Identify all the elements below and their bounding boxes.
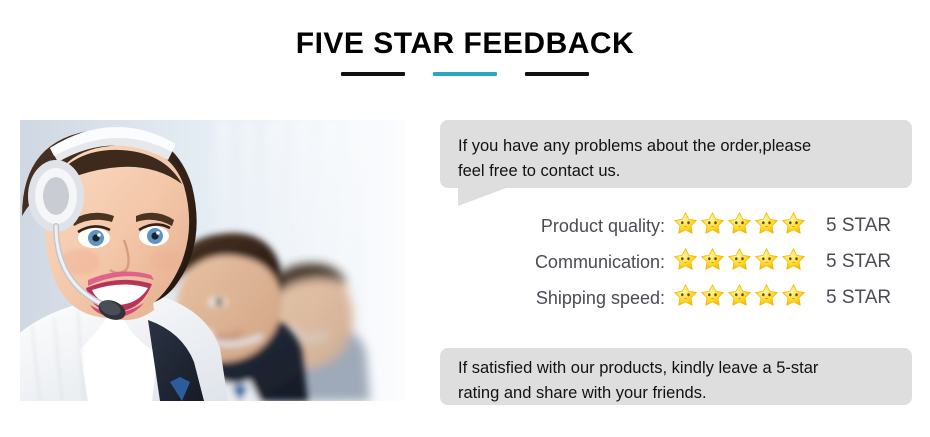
ratings-list: Product quality: 5 STAR Communication: 5… [440,208,912,316]
rating-value: 5 STAR [808,215,891,237]
star-icon [727,283,752,313]
page-title: FIVE STAR FEEDBACK [0,26,930,62]
rating-row-communication: Communication: 5 STAR [440,244,912,280]
title-underline-rules [0,72,930,76]
star-icon [754,211,779,241]
title-rule-left [341,72,405,76]
star-icon [673,211,698,241]
star-rating-shipping-speed [673,283,808,313]
rating-label: Product quality: [440,216,673,237]
star-icon [700,211,725,241]
star-icon [727,211,752,241]
review-request-bubble: If satisfied with our products, kindly l… [440,348,912,405]
rating-row-product-quality: Product quality: 5 STAR [440,208,912,244]
star-rating-communication [673,247,808,277]
star-icon [781,283,806,313]
star-rating-product-quality [673,211,808,241]
rating-label: Communication: [440,252,673,273]
review-request-line-2: rating and share with your friends. [458,381,892,406]
contact-info-line-1: If you have any problems about the order… [458,134,892,159]
rating-row-shipping-speed: Shipping speed: 5 STAR [440,280,912,316]
contact-info-line-2: feel free to contact us. [458,159,892,184]
star-icon [781,247,806,277]
star-icon [727,247,752,277]
rating-value: 5 STAR [808,251,891,273]
star-icon [754,247,779,277]
star-icon [673,247,698,277]
star-icon [700,283,725,313]
star-icon [673,283,698,313]
star-icon [781,211,806,241]
speech-bubble-tail [458,188,506,206]
contact-info-bubble: If you have any problems about the order… [440,120,912,188]
customer-service-photo [20,120,405,401]
star-icon [754,283,779,313]
title-rule-accent [433,72,497,76]
rating-label: Shipping speed: [440,288,673,309]
rating-value: 5 STAR [808,287,891,309]
review-request-line-1: If satisfied with our products, kindly l… [458,356,892,381]
title-rule-right [525,72,589,76]
star-icon [700,247,725,277]
